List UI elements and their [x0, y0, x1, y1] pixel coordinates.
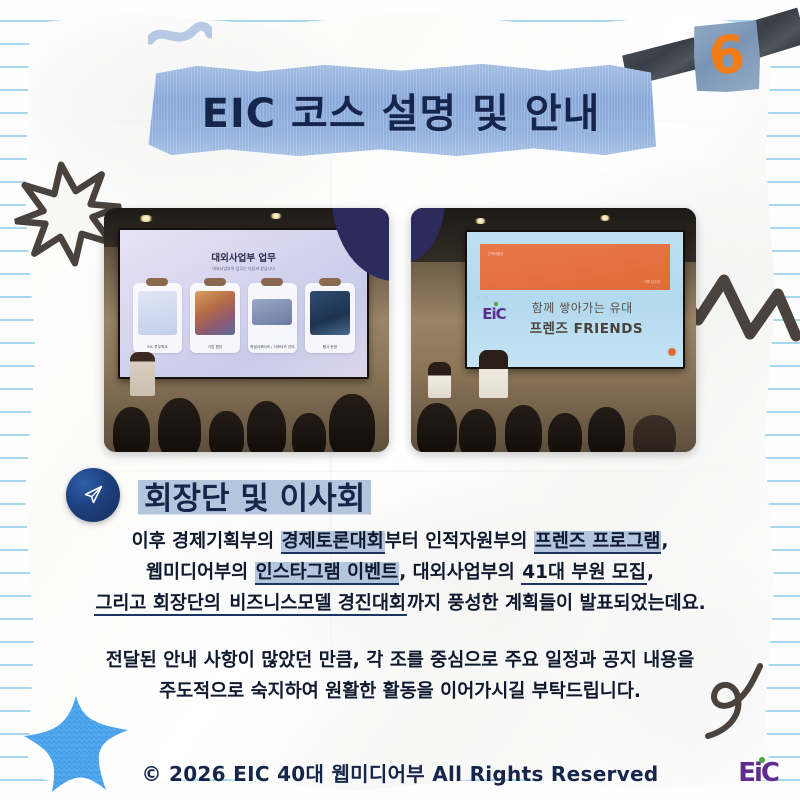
photo-left[interactable]: 대외사업부 업무 대외사업부의 업무는 다음과 같습니다 EIC 루무학교 기업… — [104, 208, 389, 452]
underline-term: 비즈니스모델 경진대회 — [228, 593, 407, 616]
audience-head — [158, 398, 201, 453]
slide-card: 학생서포터즈 / 서포터즈 관리 — [248, 283, 298, 354]
highlight-term: 프렌즈 프로그램 — [534, 531, 662, 554]
highlight-term: 경제토론대회 — [281, 531, 385, 554]
underline-term: 그리고 회장단의 — [94, 593, 228, 616]
page-title: EIC 코스 설명 및 안내 — [202, 81, 601, 139]
cursor-arrow-icon — [66, 468, 120, 522]
text-line: 웹미디어부의 인스타그램 이벤트, 대외사업부의 41대 부원 모집, — [0, 557, 800, 588]
text-line: 그리고 회장단의 비즈니스모델 경진대회까지 풍성한 계획들이 발표되었는데요. — [0, 588, 800, 619]
slide-line-2: 프렌즈 FRIENDS — [530, 317, 644, 337]
card-caption: 행사 운영 — [305, 345, 355, 350]
eic-logo: EiC — [482, 305, 505, 323]
text-line: 이후 경제기획부의 경제토론대회부터 인적자원부의 프렌즈 프로그램, — [0, 526, 800, 557]
audience-head — [417, 403, 457, 452]
projection-screen: 인적자원부 기획 김수진 · · EiC 함께 쌓아가는 유대 프렌즈 FRIE… — [465, 230, 684, 369]
card-chip — [261, 278, 283, 286]
page-number-badge: 6 — [692, 20, 762, 93]
footer-logo-text: EiC — [738, 758, 778, 788]
card-thumb — [310, 291, 350, 335]
audience-head — [459, 409, 496, 452]
audience-head — [247, 401, 287, 452]
slide-subtitle: 대외사업부의 업무는 다음과 같습니다 — [120, 266, 367, 272]
footer-eic-logo: EiC — [738, 758, 778, 788]
slide-card: 행사 운영 — [305, 283, 355, 354]
slide-card: EIC 루무학교 — [133, 283, 183, 354]
slide-header-left: 인적자원부 — [488, 251, 504, 256]
slide-dots: · · — [478, 295, 490, 301]
ceiling-light — [269, 213, 283, 219]
highlight-term: 인스타그램 이벤트 — [255, 562, 400, 585]
audience-head — [329, 394, 375, 452]
photo-row: 대외사업부 업무 대외사업부의 업무는 다음과 같습니다 EIC 루무학교 기업… — [104, 208, 696, 452]
audience-head — [209, 411, 243, 452]
photo-right[interactable]: 인적자원부 기획 김수진 · · EiC 함께 쌓아가는 유대 프렌즈 FRIE… — [411, 208, 696, 452]
text-line: 주도적으로 숙지하여 원활한 활동을 이어가시길 부탁드립니다. — [0, 676, 800, 707]
card-caption: 기업 협찬 — [190, 345, 240, 350]
slide-content: 인적자원부 기획 김수진 · · EiC 함께 쌓아가는 유대 프렌즈 FRIE… — [467, 232, 682, 367]
audience-head — [505, 405, 542, 452]
audience — [411, 354, 696, 452]
card-thumb — [138, 291, 178, 335]
audience-head — [548, 413, 582, 452]
section-heading: 회장단 및 이사회 — [66, 468, 371, 522]
card-caption: 학생서포터즈 / 서포터즈 관리 — [248, 345, 298, 350]
page-number-value: 6 — [708, 29, 747, 83]
audience-head — [588, 407, 625, 452]
title-banner: EIC 코스 설명 및 안내 — [146, 62, 656, 158]
slide-card: 기업 협찬 — [190, 283, 240, 354]
slide-orange-box: 인적자원부 기획 김수진 — [480, 244, 670, 290]
audience — [104, 354, 389, 452]
paragraph-2: 전달된 안내 사항이 많았던 만큼, 각 조를 중심으로 주요 일정과 공지 내… — [0, 645, 800, 707]
card-thumb — [195, 291, 235, 335]
page-canvas: 6 EIC 코스 설명 및 안내 대외사업부 업무 대외사업부의 업무는 다음과… — [0, 0, 800, 800]
slide-line-1: 함께 쌓아가는 유대 — [532, 299, 633, 316]
slide-title: 대외사업부 업무 — [120, 250, 367, 264]
card-chip — [319, 278, 341, 286]
text-line: 전달된 안내 사항이 많았던 만큼, 각 조를 중심으로 주요 일정과 공지 내… — [0, 645, 800, 676]
audience-head — [633, 415, 676, 452]
card-thumb — [252, 299, 292, 324]
card-caption: EIC 루무학교 — [133, 345, 183, 350]
underline-term: 41대 부원 모집 — [521, 562, 647, 585]
body-text-block: 이후 경제기획부의 경제토론대회부터 인적자원부의 프렌즈 프로그램, 웹미디어… — [0, 526, 800, 707]
audience-head — [292, 413, 326, 452]
slide-cards: EIC 루무학교 기업 협찬 학생서포터즈 / 서포터즈 관리 — [133, 283, 355, 354]
card-chip — [204, 278, 226, 286]
card-chip — [146, 278, 168, 286]
ceiling-light — [474, 218, 487, 224]
slide-header-right: 기획 김수진 — [644, 279, 661, 284]
section-title: 회장단 및 이사회 — [138, 473, 371, 518]
paragraph-1: 이후 경제기획부의 경제토론대회부터 인적자원부의 프렌즈 프로그램, 웹미디어… — [0, 526, 800, 619]
audience-head — [113, 407, 150, 452]
footer-copyright: © 2026 EIC 40대 웹미디어부 All Rights Reserved — [0, 758, 800, 787]
